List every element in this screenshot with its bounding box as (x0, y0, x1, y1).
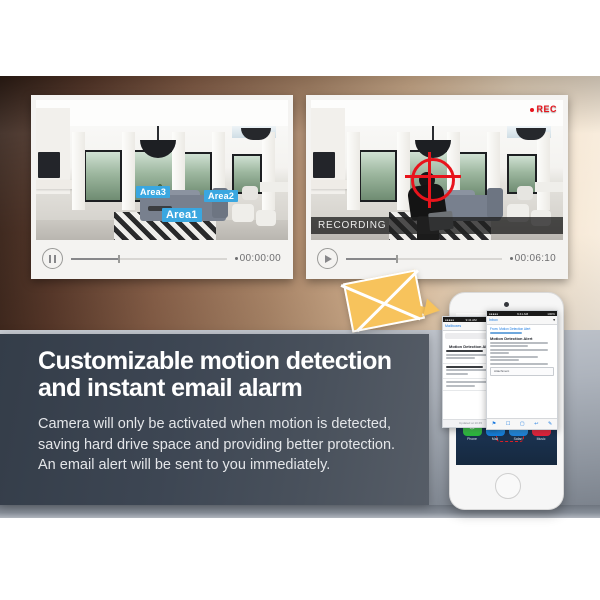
promo-banner: Area3 Area2 Area1 00:00:00 (0, 0, 600, 600)
detail-navbar: Inbox ▾ (487, 316, 557, 325)
compose-icon[interactable]: ✎ (548, 422, 552, 427)
play-icon[interactable] (317, 248, 338, 269)
video-player-right: REC RECORDING 00:06:10 (306, 95, 568, 279)
timecode-right: 00:06:10 (510, 253, 556, 264)
app-label-mail: Mail (486, 437, 505, 441)
body-copy: Camera will only be activated when motio… (38, 414, 413, 476)
back-to-inbox-button[interactable]: Inbox (489, 318, 498, 322)
app-label-safari: Safari (509, 437, 528, 441)
message-subject-detail: Motion Detection Alert (490, 336, 554, 341)
folder-icon[interactable]: ☐ (506, 422, 510, 427)
attachment-chip[interactable]: Attachment (490, 367, 554, 376)
progress-track-left[interactable] (71, 258, 227, 260)
signal-icon: ●●●●● (445, 318, 454, 322)
player-controls-right: 00:06:10 (311, 243, 563, 274)
pause-icon[interactable] (42, 248, 63, 269)
background-bottom (0, 518, 600, 600)
front-camera-icon (504, 302, 509, 307)
tv-shape (38, 152, 60, 178)
home-button[interactable] (495, 473, 521, 499)
page-title: Customizable motion detection and instan… (38, 348, 418, 401)
progress-track-right[interactable] (346, 258, 502, 260)
signal-icon: ●●●●● (489, 312, 498, 316)
message-body (490, 342, 554, 365)
motion-area-tag-3[interactable]: Area3 (136, 186, 170, 198)
mail-detail-screenshot: ●●●●● 9:41 AM 100% Inbox ▾ From: Motion … (486, 310, 558, 430)
target-crosshair-icon (411, 158, 455, 202)
copy-panel: Customizable motion detection and instan… (0, 334, 429, 505)
message-from-line: From: Motion Detection Alert (490, 327, 554, 331)
mail-action-toolbar: ⚑ ☐ ▢ ↩ ✎ (487, 418, 557, 429)
video-frame-left: Area3 Area2 Area1 (36, 100, 288, 240)
recording-status-banner: RECORDING (311, 217, 563, 234)
motion-area-tag-2[interactable]: Area2 (204, 190, 238, 202)
clock-label: 9:41 AM (466, 318, 477, 322)
flag-icon[interactable]: ⚑ (492, 422, 496, 427)
background-top (0, 0, 600, 78)
clock-label: 9:41 AM (517, 312, 528, 316)
app-label-music: Music (532, 437, 551, 441)
timecode-left: 00:00:00 (235, 253, 281, 264)
rec-indicator: REC (530, 104, 557, 114)
reply-icon[interactable]: ↩ (534, 422, 538, 427)
player-controls-left: 00:00:00 (36, 243, 288, 274)
motion-area-tag-1[interactable]: Area1 (162, 208, 202, 222)
app-label-phone: Phone (463, 437, 482, 441)
chevron-down-icon[interactable]: ▾ (553, 318, 555, 322)
trash-icon[interactable]: ▢ (520, 422, 525, 427)
video-player-left: Area3 Area2 Area1 00:00:00 (31, 95, 293, 279)
back-to-mailboxes-button[interactable]: Mailboxes (445, 324, 461, 328)
battery-icon: 100% (547, 312, 555, 316)
status-bar-detail: ●●●●● 9:41 AM 100% (487, 311, 557, 316)
